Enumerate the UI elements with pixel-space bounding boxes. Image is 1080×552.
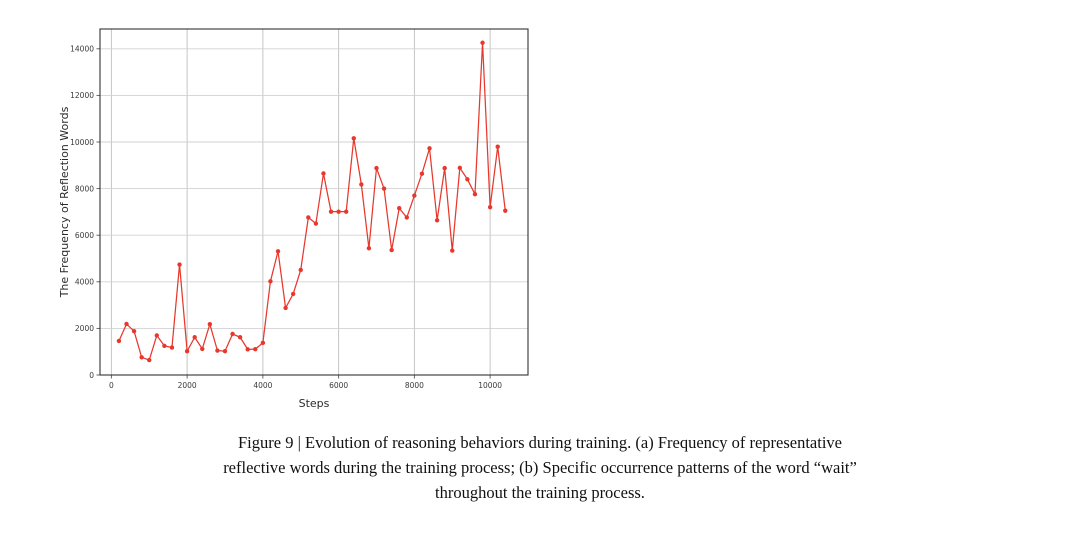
data-point-marker: [299, 268, 303, 272]
y-tick-label: 8000: [75, 184, 94, 193]
data-point-marker: [397, 206, 401, 210]
data-point-marker: [185, 349, 189, 353]
data-point-marker: [336, 209, 340, 213]
figure-panels: 0200040006000800010000 02000400060008000…: [0, 0, 1080, 420]
data-point-marker: [344, 209, 348, 213]
x-tick-label: 2000: [178, 381, 197, 390]
data-point-marker: [314, 221, 318, 225]
data-point-marker: [503, 209, 507, 213]
data-point-marker: [155, 333, 159, 337]
data-point-marker: [223, 349, 227, 353]
data-point-marker: [215, 348, 219, 352]
chart-b-svg: 0200040006000800010000 02004006008001000…: [540, 0, 1080, 420]
figure-caption-line-3: throughout the training process.: [0, 480, 1080, 505]
data-point-marker: [238, 335, 242, 339]
y-tick-label: 2000: [75, 324, 94, 333]
x-tick-label: 6000: [329, 381, 348, 390]
data-point-marker: [382, 186, 386, 190]
y-tick-label: 10000: [70, 138, 94, 147]
chart-a-svg: 0200040006000800010000 02000400060008000…: [0, 0, 540, 420]
data-point-marker: [488, 205, 492, 209]
data-point-marker: [192, 335, 196, 339]
data-point-marker: [458, 166, 462, 170]
data-point-marker: [442, 166, 446, 170]
data-point-marker: [162, 344, 166, 348]
y-tick-label: 4000: [75, 278, 94, 287]
data-point-marker: [268, 279, 272, 283]
data-point-marker: [246, 347, 250, 351]
chart-a-x-axis-title: Steps: [299, 397, 330, 410]
data-point-marker: [427, 146, 431, 150]
data-point-marker: [405, 215, 409, 219]
data-point-marker: [276, 249, 280, 253]
data-point-marker: [412, 193, 416, 197]
data-point-marker: [124, 322, 128, 326]
data-point-marker: [177, 262, 181, 266]
panel-a-background: [0, 0, 540, 420]
data-point-marker: [321, 171, 325, 175]
data-point-marker: [117, 339, 121, 343]
data-point-marker: [367, 246, 371, 250]
data-point-marker: [420, 171, 424, 175]
data-point-marker: [147, 358, 151, 362]
y-tick-label: 0: [89, 371, 94, 380]
data-point-marker: [480, 41, 484, 45]
data-point-marker: [253, 347, 257, 351]
y-tick-label: 6000: [75, 231, 94, 240]
chart-panel-b: 0200040006000800010000 02004006008001000…: [540, 0, 1080, 420]
data-point-marker: [261, 341, 265, 345]
data-point-marker: [465, 177, 469, 181]
data-point-marker: [374, 166, 378, 170]
y-tick-label: 12000: [70, 91, 94, 100]
x-tick-label: 4000: [253, 381, 272, 390]
x-tick-label: 0: [109, 381, 114, 390]
data-point-marker: [283, 306, 287, 310]
x-tick-label: 8000: [405, 381, 424, 390]
data-point-marker: [230, 332, 234, 336]
data-point-marker: [208, 322, 212, 326]
data-point-marker: [132, 329, 136, 333]
figure-caption-line-2: reflective words during the training pro…: [0, 455, 1080, 480]
data-point-marker: [200, 347, 204, 351]
data-point-marker: [291, 292, 295, 296]
figure-caption-line-1: Figure 9 | Evolution of reasoning behavi…: [0, 430, 1080, 455]
data-point-marker: [389, 248, 393, 252]
data-point-marker: [352, 136, 356, 140]
chart-a-y-axis-title: The Frequency of Reflection Words: [58, 106, 71, 298]
data-point-marker: [306, 215, 310, 219]
chart-panel-a: 0200040006000800010000 02000400060008000…: [0, 0, 540, 420]
figure-caption: Figure 9 | Evolution of reasoning behavi…: [0, 430, 1080, 505]
data-point-marker: [473, 192, 477, 196]
data-point-marker: [329, 209, 333, 213]
data-point-marker: [170, 345, 174, 349]
data-point-marker: [359, 182, 363, 186]
data-point-marker: [139, 355, 143, 359]
x-tick-label: 10000: [478, 381, 502, 390]
panel-b-background: [540, 0, 1080, 420]
y-tick-label: 14000: [70, 45, 94, 54]
data-point-marker: [450, 248, 454, 252]
data-point-marker: [435, 218, 439, 222]
data-point-marker: [496, 144, 500, 148]
figure-root: 0200040006000800010000 02000400060008000…: [0, 0, 1080, 552]
